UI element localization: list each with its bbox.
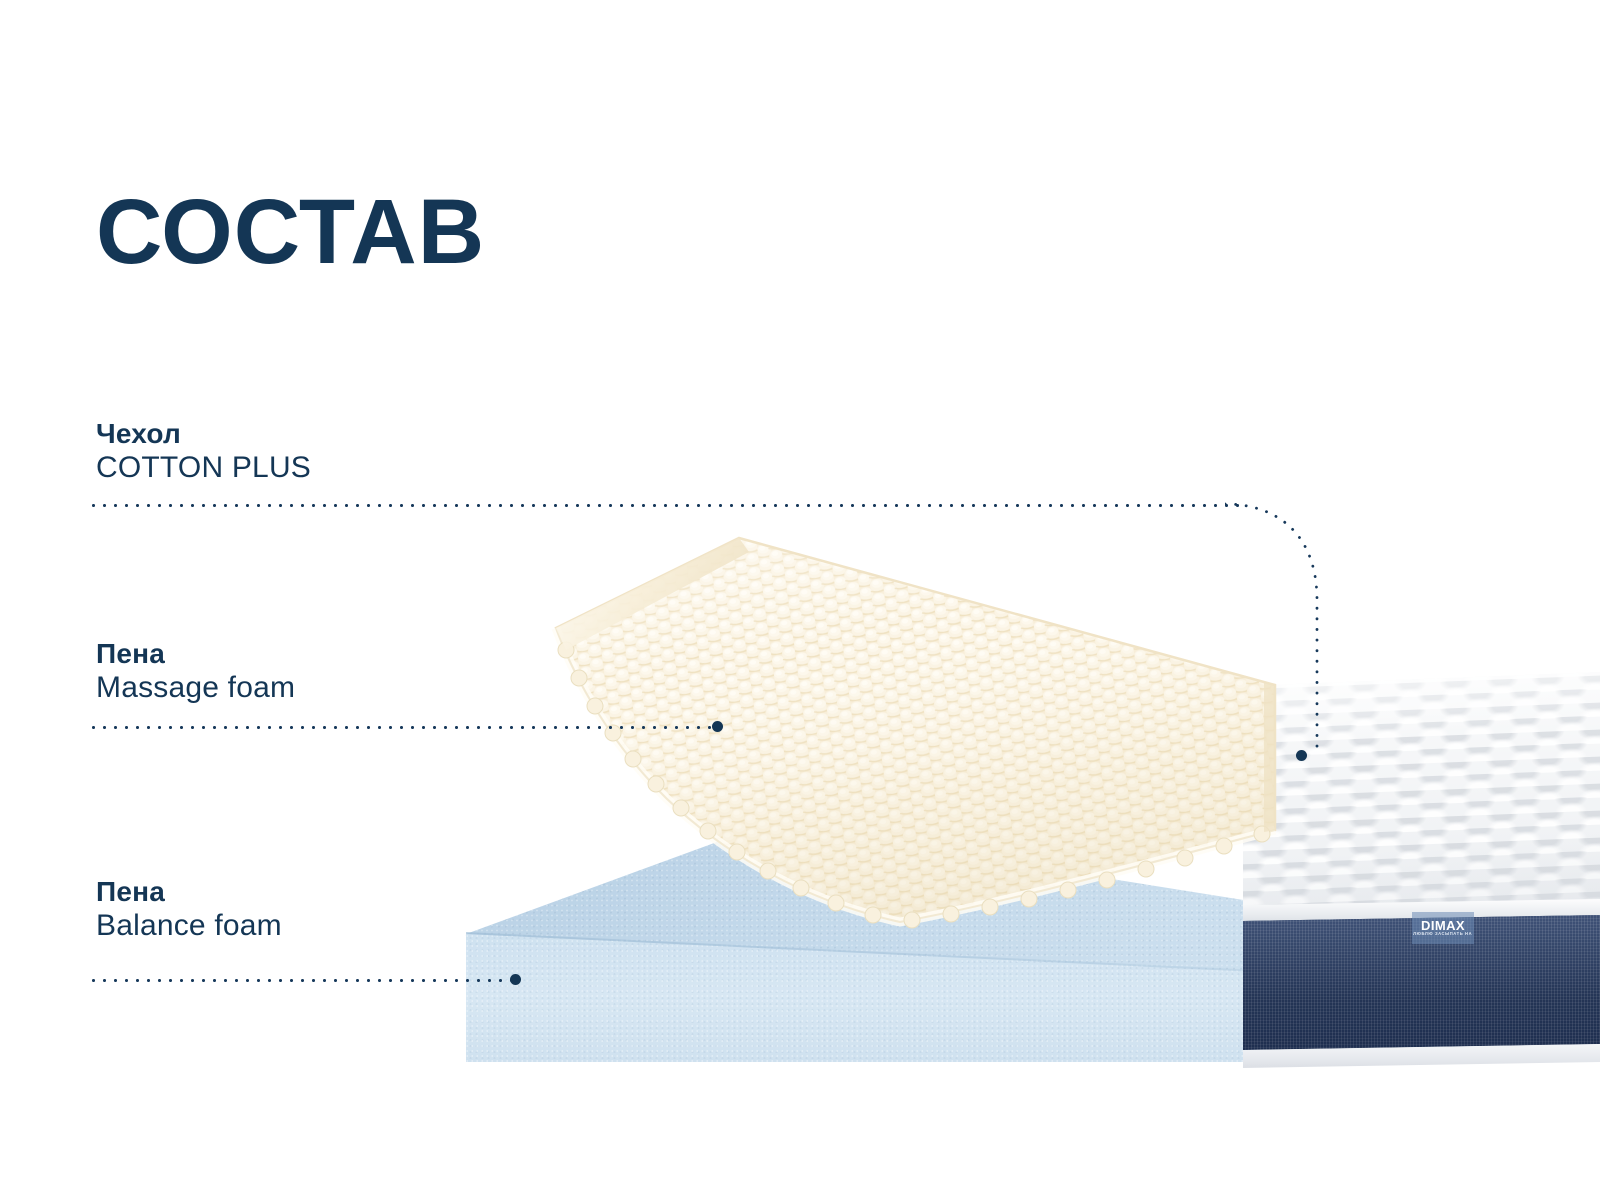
leader-dot-massage-foam bbox=[712, 721, 723, 732]
massage-foam-svg bbox=[470, 530, 1290, 940]
callout-massage-foam-line2: Massage foam bbox=[96, 670, 295, 707]
callout-cover-line1: Чехол bbox=[96, 417, 311, 450]
callout-balance-foam-line2: Balance foam bbox=[96, 908, 282, 945]
callout-massage-foam: Пена Massage foam bbox=[96, 637, 295, 707]
massage-foam-body bbox=[470, 530, 1290, 940]
dimax-brand-name: DIMAX bbox=[1421, 919, 1465, 932]
dimax-brand-badge: DIMAX ЛЮБЛЮ ЗАСЫПАТЬ НА bbox=[1412, 912, 1474, 944]
callout-balance-foam: Пена Balance foam bbox=[96, 875, 282, 945]
composition-infographic: СОСТАВ DIMAX ЛЮБЛЮ ЗАСЫПАТЬ НА bbox=[0, 0, 1600, 1199]
mattress-illustration: DIMAX ЛЮБЛЮ ЗАСЫПАТЬ НА bbox=[0, 0, 1600, 1199]
massage-foam-sheet bbox=[470, 530, 1290, 940]
leader-line-massage-foam bbox=[88, 726, 718, 729]
callout-massage-foam-line1: Пена bbox=[96, 637, 295, 670]
cover-top-sheen bbox=[1243, 672, 1600, 915]
callout-balance-foam-line1: Пена bbox=[96, 875, 282, 908]
leader-line-balance-foam bbox=[88, 979, 516, 982]
callout-cover-line2: COTTON PLUS bbox=[96, 450, 311, 487]
cover-quilted-top bbox=[1243, 672, 1600, 915]
massage-foam-right-edge bbox=[1264, 682, 1275, 832]
callout-cover: Чехол COTTON PLUS bbox=[96, 417, 311, 487]
leader-dot-cover bbox=[1296, 750, 1307, 761]
dimax-brand-tagline: ЛЮБЛЮ ЗАСЫПАТЬ НА bbox=[1413, 933, 1472, 937]
leader-dot-balance-foam bbox=[510, 974, 521, 985]
leader-line-cover bbox=[88, 504, 1243, 507]
